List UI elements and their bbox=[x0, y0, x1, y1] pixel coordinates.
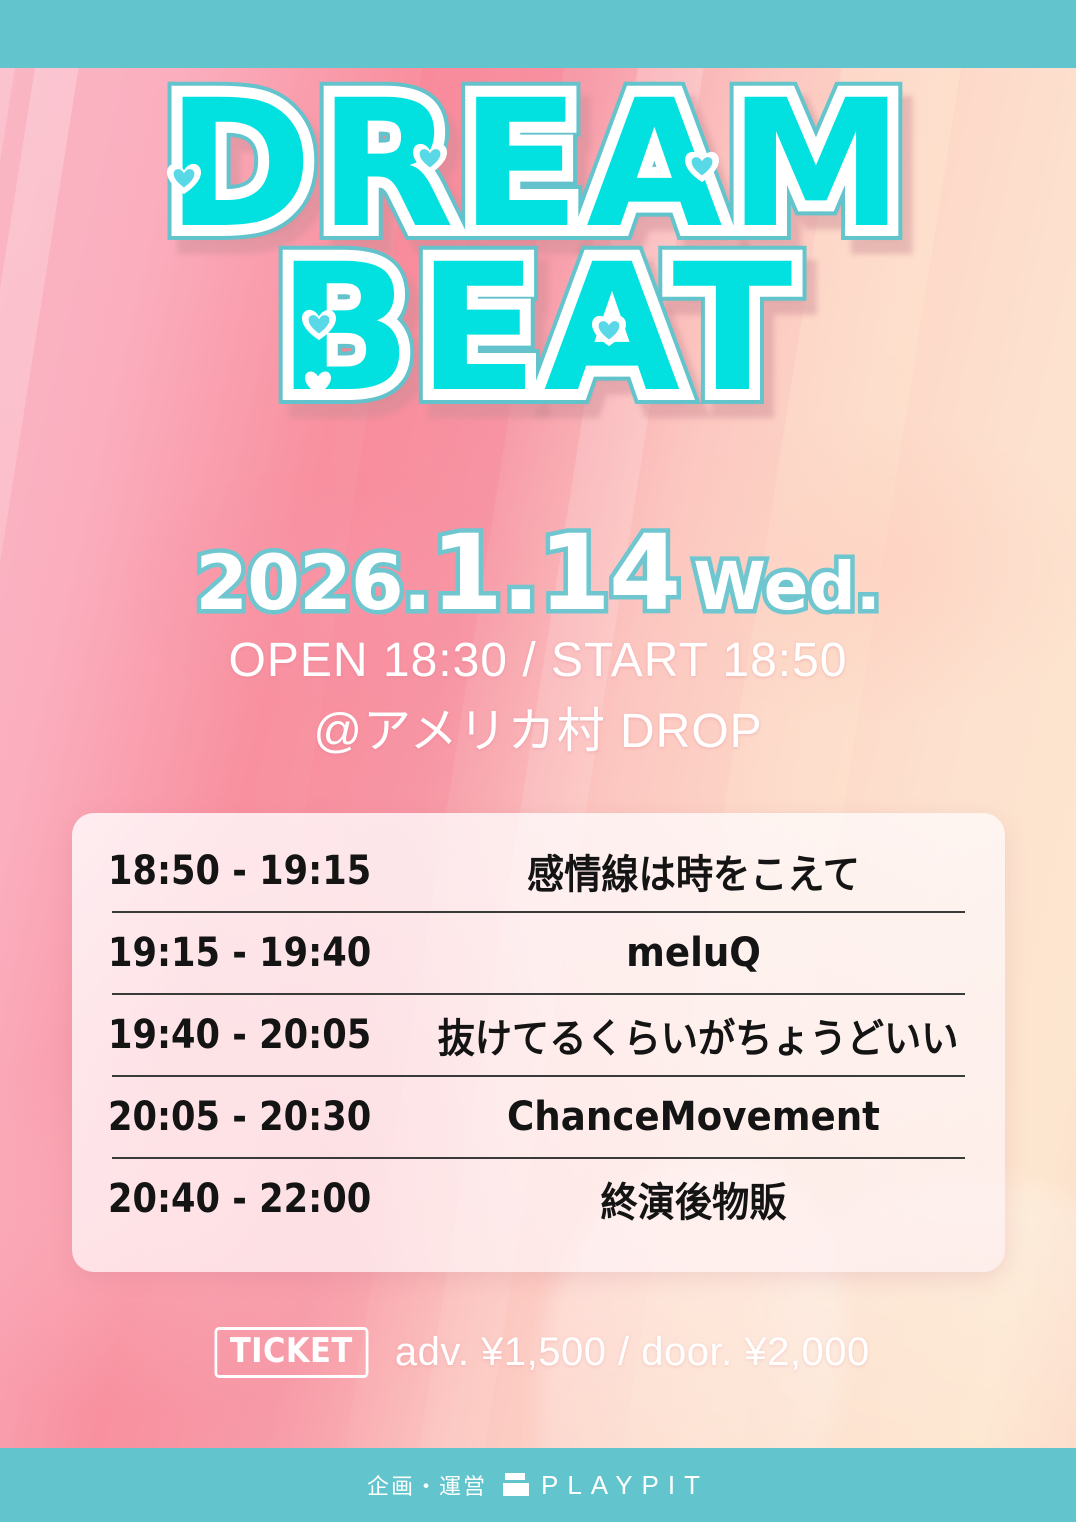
ticket-info: TICKET adv. ¥1,500 / door. ¥2,000 bbox=[0, 1327, 1076, 1378]
heart-icon bbox=[303, 370, 333, 396]
event-title: DREAM DREAM DREAM BEAT BEAT BEAT bbox=[0, 84, 1076, 428]
date-weekday: Wed. bbox=[693, 548, 881, 625]
timetable-act: 感情線は時をこえて bbox=[437, 842, 949, 900]
footer-credit: 企画・運営 bbox=[367, 1469, 487, 1501]
timetable-separator bbox=[112, 1157, 965, 1159]
timetable-act: 終演後物販 bbox=[437, 1170, 949, 1228]
timetable-row: 18:50 - 19:15 感情線は時をこえて bbox=[106, 839, 971, 903]
timetable-row: 20:40 - 22:00 終演後物販 bbox=[106, 1167, 971, 1231]
timetable-separator bbox=[112, 1075, 965, 1077]
timetable-time: 18:50 - 19:15 bbox=[108, 848, 381, 894]
timetable-act: 抜けてるくらいがちょうどいい bbox=[438, 1006, 959, 1064]
timetable-separator bbox=[112, 993, 965, 995]
venue-name: @アメリカ村 DROP bbox=[0, 691, 1076, 761]
timetable-row: 19:15 - 19:40 meluQ bbox=[106, 921, 971, 985]
timetable-time: 19:15 - 19:40 bbox=[108, 930, 381, 976]
heart-icon bbox=[165, 162, 203, 196]
title-line-2: BEAT bbox=[0, 248, 1076, 410]
title-line-2-wrap: BEAT BEAT BEAT bbox=[0, 248, 1076, 428]
heart-icon bbox=[590, 314, 628, 348]
playpit-logo: PLAYPIT bbox=[503, 1470, 709, 1501]
timetable-time: 19:40 - 20:05 bbox=[108, 1012, 381, 1058]
timetable-panel: 18:50 - 19:15 感情線は時をこえて 19:15 - 19:40 me… bbox=[72, 813, 1005, 1272]
timetable-time: 20:05 - 20:30 bbox=[108, 1094, 381, 1140]
timetable-separator bbox=[112, 911, 965, 913]
footer: 企画・運営 PLAYPIT bbox=[0, 1448, 1076, 1522]
open-start-time: OPEN 18:30 / START 18:50 bbox=[0, 633, 1076, 688]
timetable-act: ChanceMovement bbox=[437, 1094, 949, 1140]
timetable-row: 20:05 - 20:30 ChanceMovement bbox=[106, 1085, 971, 1149]
heart-icon bbox=[411, 142, 449, 176]
heart-icon bbox=[300, 308, 338, 342]
top-teal-bar bbox=[0, 0, 1076, 68]
playpit-logo-icon bbox=[503, 1472, 529, 1498]
event-date: 2026.1.14Wed. bbox=[0, 512, 1076, 634]
heart-icon bbox=[683, 150, 721, 184]
timetable-row: 19:40 - 20:05 抜けてるくらいがちょうどいい bbox=[106, 1003, 971, 1067]
timetable-time: 20:40 - 22:00 bbox=[108, 1176, 381, 1222]
timetable-act: meluQ bbox=[437, 930, 949, 976]
playpit-logo-text: PLAYPIT bbox=[541, 1470, 709, 1501]
date-year: 2026. bbox=[195, 538, 430, 627]
title-line-1: DREAM bbox=[0, 84, 1076, 246]
event-flyer: DREAM DREAM DREAM BEAT BEAT BEAT bbox=[0, 0, 1076, 1522]
ticket-badge: TICKET bbox=[215, 1327, 369, 1378]
ticket-price: adv. ¥1,500 / door. ¥2,000 bbox=[395, 1330, 870, 1375]
date-day: 1.14 bbox=[431, 512, 680, 634]
